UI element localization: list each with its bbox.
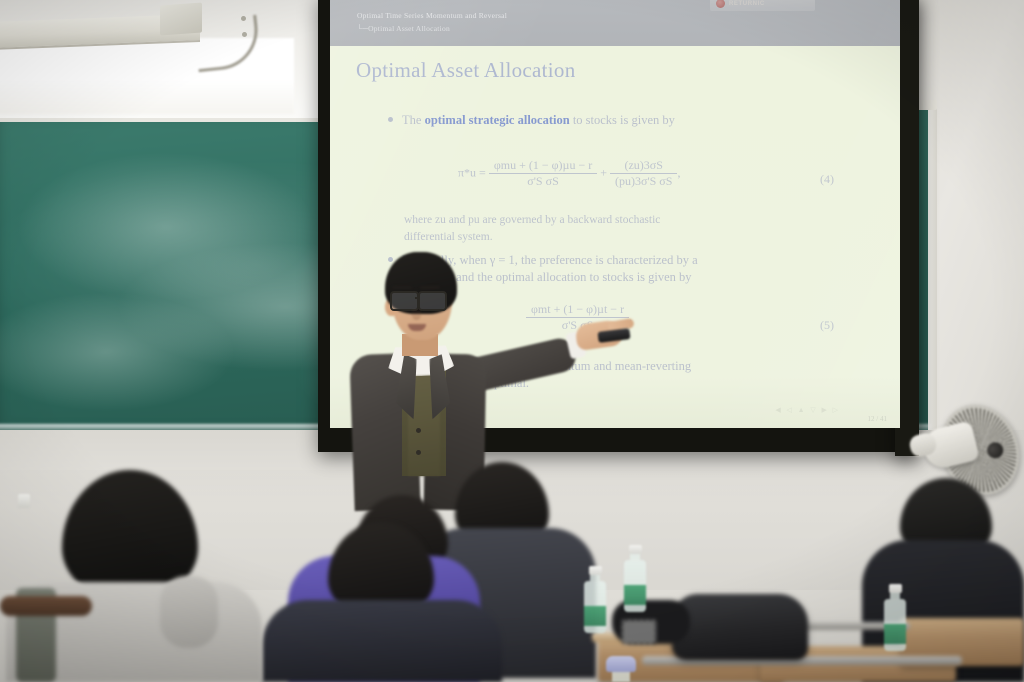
wall-screw <box>241 16 246 21</box>
chair-back-left <box>0 596 92 616</box>
jacket-button <box>416 428 421 433</box>
student-front-left-arm <box>160 576 218 648</box>
slide-header-title: Optimal Time Series Momentum and Reversa… <box>357 11 507 20</box>
bullet-1-bold: optimal strategic allocation <box>425 113 570 127</box>
slide-page-indicator: 12 / 41 <box>868 415 887 423</box>
slide-bullet-1: The optimal strategic allocation to stoc… <box>402 112 832 129</box>
institution-logo: RETURNIC <box>710 0 815 11</box>
water-bottle-4 <box>604 656 638 682</box>
equation-4-lhs: π*u = <box>458 165 486 179</box>
bottle-cap-blue <box>606 656 636 672</box>
equation-4-number: (4) <box>820 172 834 187</box>
presentation-remote <box>597 328 630 343</box>
wall-screw <box>242 32 247 37</box>
water-bottle-3 <box>884 584 906 651</box>
slide-note-line-2: differential system. <box>404 229 824 246</box>
equation-4-term-2: (zu)3σS (pu)3σ'S σS <box>610 158 677 189</box>
lecturer-nose <box>412 308 421 320</box>
equation-5-number: (5) <box>820 318 834 333</box>
black-backpack <box>672 594 808 660</box>
backpack-mesh-pocket <box>622 620 656 644</box>
slide-header-subtitle: └─Optimal Asset Allocation <box>357 24 450 33</box>
bottle-label <box>584 606 606 626</box>
bottle-label <box>624 585 646 605</box>
equation-4-term-1-numerator: φmu + (1 − φ)µu − r <box>489 158 597 174</box>
chalk-smudge <box>0 292 236 412</box>
student-center-front-body <box>262 600 502 682</box>
equation-4-term-1: φmu + (1 − φ)µu − r σ'S σS <box>489 158 597 189</box>
bottle-label <box>884 624 906 644</box>
lecture-hall-photo: RETURNIC Optimal Time Series Momentum an… <box>0 0 1024 682</box>
bullet-1-post: to stocks is given by <box>570 113 675 127</box>
equation-4-term-1-denominator: σ'S σS <box>489 174 597 189</box>
bottle-body <box>584 581 606 633</box>
logo-mark-icon <box>716 0 725 8</box>
bottle-cap <box>629 545 642 554</box>
chalk-smudge <box>16 152 316 302</box>
slide-title: Optimal Asset Allocation <box>356 58 576 83</box>
small-cup <box>18 494 30 508</box>
slide-navigation-controls[interactable]: ◀ ◁ ▲ ▽ ▶ ▷ <box>775 406 840 414</box>
slide-note-line-1: where zu and pu are governed by a backwa… <box>404 212 824 229</box>
bottle-cap <box>589 566 602 575</box>
water-bottle-2 <box>624 545 646 612</box>
equation-4: π*u = φmu + (1 − φ)µu − r σ'S σS + (zu)3… <box>458 158 680 189</box>
eyeglasses-bridge <box>415 297 420 299</box>
lecturer-eyebrow-right <box>420 286 440 289</box>
bottle-neck <box>612 672 630 682</box>
equation-4-term-2-denominator: (pu)3σ'S σS <box>610 174 677 189</box>
bullet-1-pre: The <box>402 113 425 127</box>
bottle-cap <box>889 584 902 593</box>
equation-4-comma: , <box>677 165 680 179</box>
eyeglasses-lens-right <box>418 291 447 311</box>
water-bottle-1 <box>584 566 606 633</box>
logo-text: RETURNIC <box>729 1 765 7</box>
bottle-body <box>624 560 646 612</box>
bottle-body <box>884 599 906 651</box>
jacket-button <box>416 450 421 455</box>
slide-header-bar: RETURNIC Optimal Time Series Momentum an… <box>330 0 900 46</box>
equation-4-term-2-numerator: (zu)3σS <box>610 158 677 174</box>
slide-note: where zu and pu are governed by a backwa… <box>404 212 824 246</box>
bullet-dot-icon <box>388 117 393 122</box>
equation-4-plus: + <box>600 165 607 179</box>
lecturer-eyebrow-left <box>392 286 412 289</box>
fan-hub <box>985 440 1006 461</box>
